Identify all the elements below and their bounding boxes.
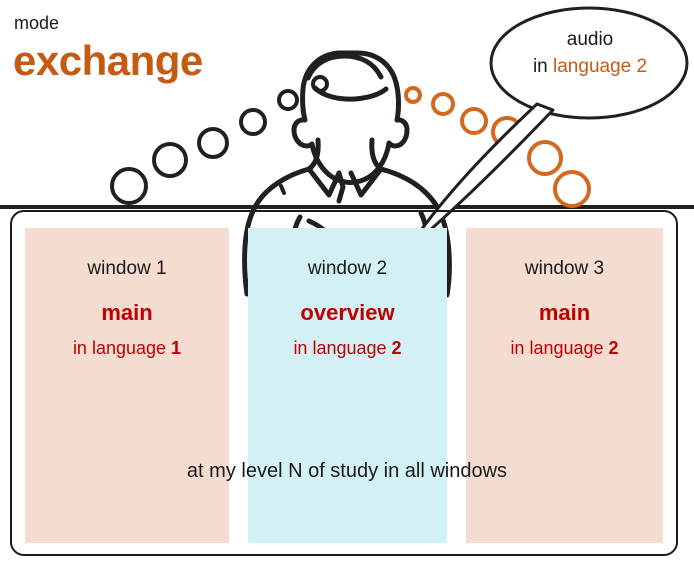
window-2-kind: overview [248,300,447,326]
orange-circle-trail-icon [406,88,589,206]
black-circle-trail-icon [112,77,327,203]
mode-value: exchange [13,40,203,82]
window-1-language-number: 1 [171,338,181,358]
window-2-title: window 2 [248,258,447,280]
bubble-line-1: audio [500,26,680,53]
bubble-line-2-prefix: in [533,56,553,77]
window-2-language-number: 2 [392,338,402,358]
bubble-line-2: in language 2 [500,53,680,80]
window-3-language-prefix: in language [510,338,608,358]
window-3-title: window 3 [466,258,663,280]
window-column-3[interactable]: window 3 main in language 2 [466,228,663,543]
mode-label: mode [14,14,59,32]
window-1-title: window 1 [25,258,229,280]
diagram-canvas: mode exchange [0,0,694,564]
window-2-language-prefix: in language [293,338,391,358]
panel-footnote: at my level N of study in all windows [0,460,694,483]
window-column-1[interactable]: window 1 main in language 1 [25,228,229,543]
speech-bubble-text: audio in language 2 [500,26,680,80]
window-3-language-number: 2 [609,338,619,358]
window-column-2[interactable]: window 2 overview in language 2 [248,228,447,543]
window-1-language: in language 1 [25,338,229,359]
window-2-language: in language 2 [248,338,447,359]
bubble-line-2-highlight: language 2 [553,56,647,77]
window-3-language: in language 2 [466,338,663,359]
window-1-language-prefix: in language [73,338,171,358]
window-1-kind: main [25,300,229,326]
window-3-kind: main [466,300,663,326]
